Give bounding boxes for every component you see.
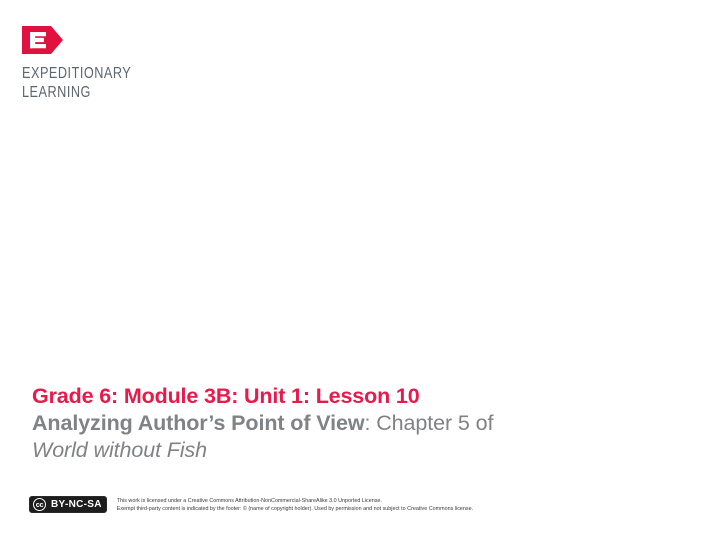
creative-commons-badge: cc BY-NC-SA — [29, 496, 107, 513]
lesson-subtitle: Analyzing Author’s Point of View: Chapte… — [32, 410, 662, 437]
license-text-line-2: Exempt third-party content is indicated … — [117, 505, 473, 513]
lesson-subtitle-emphasis: Analyzing Author’s Point of View — [32, 411, 364, 435]
license-code-label: BY-NC-SA — [51, 499, 102, 510]
brand-logo: EXPEDITIONARY LEARNING — [22, 26, 202, 102]
license-text: This work is licensed under a Creative C… — [117, 496, 473, 514]
logo-wordmark-line-2: LEARNING — [22, 83, 170, 102]
lesson-source-title: World without Fish — [32, 437, 662, 464]
logo-wordmark: EXPEDITIONARY LEARNING — [22, 64, 170, 102]
expeditionary-learning-logo-icon — [22, 26, 64, 54]
license-footer: cc BY-NC-SA This work is licensed under … — [29, 496, 473, 514]
creative-commons-icon: cc — [33, 498, 46, 511]
license-text-line-1: This work is licensed under a Creative C… — [117, 497, 473, 505]
lesson-subtitle-detail: : Chapter 5 of — [364, 411, 493, 435]
slide-canvas: EXPEDITIONARY LEARNING Grade 6: Module 3… — [0, 0, 701, 541]
logo-wordmark-line-1: EXPEDITIONARY — [22, 64, 170, 83]
slide-title-block: Grade 6: Module 3B: Unit 1: Lesson 10 An… — [32, 383, 662, 464]
lesson-identifier: Grade 6: Module 3B: Unit 1: Lesson 10 — [32, 383, 662, 410]
